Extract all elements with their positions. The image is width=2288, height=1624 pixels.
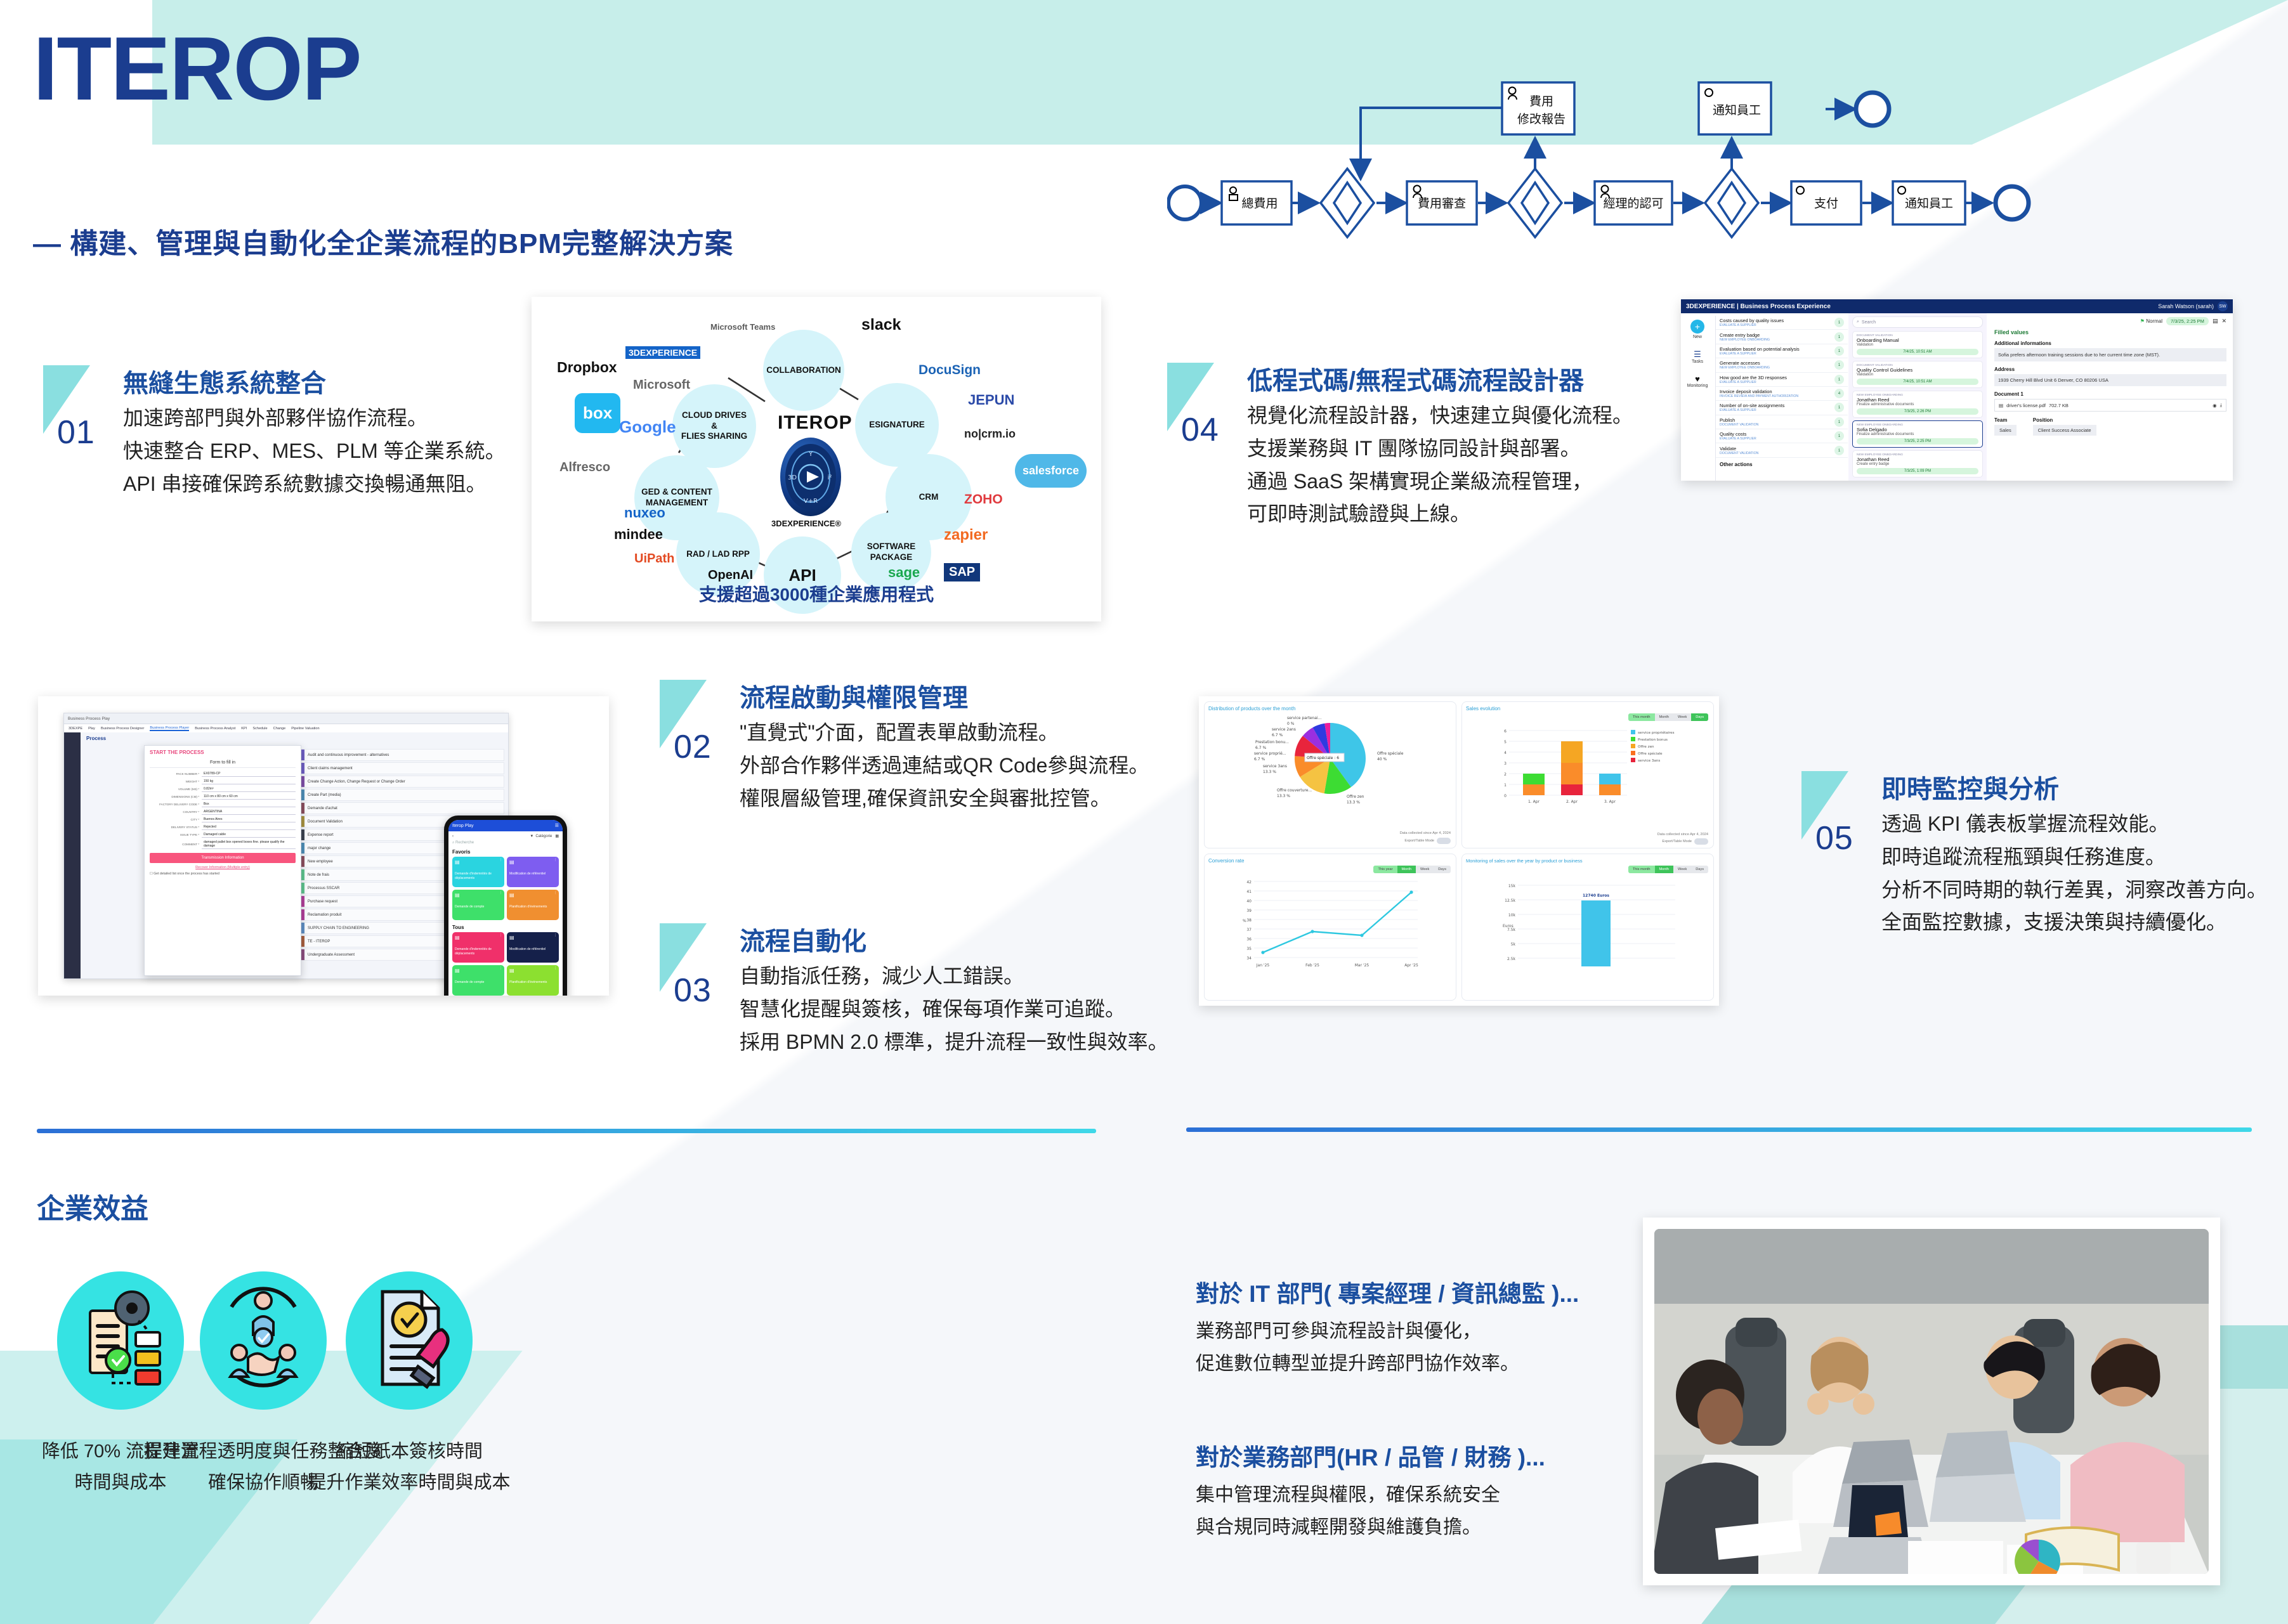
tile-label: Demande de compte	[455, 905, 502, 909]
filter-icon[interactable]: ▼	[530, 835, 533, 838]
app-task-row[interactable]: Quality costsEvaluate a supplier1	[1716, 429, 1848, 443]
svg-text:39: 39	[1246, 909, 1252, 913]
app-task-row[interactable]: Number of on-site assignmentsEvaluate a …	[1716, 401, 1848, 415]
position-label: Position	[2033, 417, 2096, 423]
app-task-row[interactable]: How good are the 3D responsesEvaluate a …	[1716, 373, 1848, 387]
feature-line: 可即時測試驗證與上線。	[1247, 498, 1633, 531]
app-task-title: How good are the 3D responses	[1720, 375, 1834, 380]
feature-title: 無縫生態系統整合	[123, 363, 326, 400]
tablet-menu-item[interactable]: Pipeline Valuation	[291, 727, 319, 731]
app-task-title: Costs caused by quality issues	[1720, 318, 1834, 323]
sales-export-toggle[interactable]: Export/Table Mode	[1662, 838, 1708, 845]
form-field-value[interactable]: 0.82m³	[202, 786, 296, 792]
bpmn-task-label-2: 費用審查	[1418, 197, 1466, 211]
feature-number: 04	[1181, 411, 1219, 449]
form-field-row[interactable]: CITY *Buenos Aires	[150, 817, 296, 822]
chart-range-tab[interactable]: Month	[1397, 866, 1416, 873]
app-task-row[interactable]: ValidateDocument Validation1	[1716, 443, 1848, 457]
card-time: 7/4/25, 10:51 AM	[1857, 379, 1978, 385]
pie-label-3: service 3ans	[1263, 764, 1287, 769]
chart-range-tab[interactable]: Days	[1434, 866, 1451, 873]
process-name: Audit and continuous improvement - alter…	[304, 753, 389, 757]
plus-icon[interactable]: +	[1690, 320, 1704, 334]
tile-menu-icon[interactable]: ⋮	[499, 933, 502, 938]
document-label: Document 1	[1994, 391, 2226, 397]
chart-range-tab[interactable]: Month	[1655, 713, 1674, 721]
hamburger-icon[interactable]: ☰	[555, 823, 559, 828]
filled-values-heading: Filled values	[1994, 329, 2226, 335]
logo-docusign: DocuSign	[918, 363, 981, 378]
svg-text:V+R: V+R	[804, 498, 818, 505]
svg-text:40: 40	[1246, 899, 1252, 904]
pie-label-0: Offre spéciale	[1377, 751, 1404, 756]
feature-title: 即時監控與分析	[1881, 769, 2059, 805]
logo-microsoft-teams: Microsoft Teams	[710, 322, 775, 332]
bpmn-task-label-7: 通知員工	[1713, 103, 1761, 117]
form-field-row[interactable]: PACK NUMBER *EX0789-CP	[150, 771, 296, 777]
app-task-title: Evaluation based on potential analysis	[1720, 346, 1834, 352]
rail-label-tasks: Tasks	[1681, 360, 1714, 364]
document-attachment[interactable]: ▤ driver's license.pdf 702.7 KB ◉ ⤓	[1994, 399, 2226, 412]
analytics-dashboard-card: Distribution of products over the month …	[1199, 696, 1719, 1006]
form-field-value[interactable]: ARGENTINA	[202, 809, 296, 815]
bpmn-task-label-3: 經理的認可	[1603, 197, 1663, 211]
app-task-card[interactable]: New Employee OnboardingSofia DelgadoFina…	[1852, 420, 1983, 448]
audience-title: 對於業務部門(HR / 品管 / 財務 )...	[1196, 1438, 1545, 1472]
logo-uipath: UiPath	[634, 552, 674, 566]
tile-label: Demande de compte	[455, 980, 502, 985]
process-list-item[interactable]: +Create Part (media)	[290, 789, 504, 801]
bpmn-task-label-4: 支付	[1814, 197, 1838, 211]
feature-line: 通過 SaaS 架構實現企業級流程管理，	[1247, 465, 1633, 498]
phone-tile[interactable]: ▤⋮Demande d'indemnités de déplacements	[452, 932, 504, 963]
ecosystem-diagram-card: COLLABORATION CLOUD DRIVES & FLIES SHARI…	[532, 297, 1101, 621]
tile-icon: ▤	[455, 935, 460, 940]
phone-section-tous: Tous	[452, 925, 563, 930]
sales-legend-entry: Offre spéciale	[1638, 751, 1663, 756]
pie-tooltip: Offre spéciale : 6	[1307, 756, 1339, 760]
audience-block-business: 對於業務部門(HR / 品管 / 財務 )... 集中管理流程與權限，確保系統安…	[1196, 1438, 1545, 1543]
app-task-subtitle: Evaluate a supplier	[1720, 380, 1834, 384]
tile-icon: ▤	[455, 892, 460, 898]
svg-text:6.7 %: 6.7 %	[1254, 757, 1265, 762]
tablet-left-rail	[64, 732, 81, 978]
tile-menu-icon[interactable]: ⋮	[554, 933, 557, 938]
logo-sap: SAP	[944, 563, 980, 581]
address-value: 1939 Cherry Hill Blvd Unit 6 Denver, CO …	[1994, 374, 2226, 386]
monitor-icon[interactable]: ♥	[1681, 374, 1714, 384]
app-cards[interactable]: Document ValidationOnboarding ManualVali…	[1848, 331, 1987, 477]
conversion-tabs[interactable]: This yearMonthWeekDays	[1373, 866, 1451, 873]
process-name: Client claims management	[304, 767, 353, 770]
app-task-list[interactable]: Costs caused by quality issuesEvaluate a…	[1715, 316, 1848, 481]
priority-badge: ⚑ Normal	[2140, 318, 2162, 324]
toggle-switch[interactable]	[1694, 838, 1708, 845]
bpmn-end-event-1	[1996, 186, 2029, 219]
app-task-title: Create entry badge	[1720, 332, 1834, 338]
app-task-count: 1	[1834, 318, 1844, 327]
app-task-title: Invoice deposit validation	[1720, 389, 1834, 394]
document-filename: driver's license.pdf	[2006, 403, 2046, 408]
form-field-row[interactable]: FACTORY DELIVERY CODE *Box	[150, 802, 296, 807]
3dexperience-compass-icon: Y 3D i² V+R	[780, 438, 841, 516]
mon-ytick-4: 12.5k	[1505, 899, 1515, 903]
download-icon[interactable]: ⤓	[2220, 402, 2222, 408]
tile-menu-icon[interactable]: ⋮	[554, 858, 557, 862]
svg-text:3: 3	[1504, 762, 1507, 766]
pie-label-5: Prestation bonu...	[1255, 740, 1289, 744]
tablet-menu-item[interactable]: Change	[273, 727, 286, 731]
process-list-item[interactable]: +Audit and continuous improvement - alte…	[290, 749, 504, 761]
card-time: 7/4/25, 10:51 AM	[1857, 349, 1978, 355]
form-field-value[interactable]: Damaged cable	[202, 832, 296, 838]
detailed-list-checkbox[interactable]: ☐ Get detailed list once the process has…	[150, 872, 296, 876]
app-task-title: Publish	[1720, 417, 1834, 423]
pie-label-4: service proprié...	[1254, 751, 1286, 756]
process-list-item[interactable]: +Create Change Action, Change Request or…	[290, 776, 504, 788]
audience-line: 集中管理流程與權限，確保系統安全	[1196, 1480, 1545, 1511]
form-field-value[interactable]: 110 cm x 80 cm x 60 cm	[202, 794, 296, 800]
app-task-row[interactable]: Evaluation based on potential analysisEv…	[1716, 344, 1848, 358]
eco-hub-cloud-drives: CLOUD DRIVES & FLIES SHARING	[672, 384, 756, 468]
feature-line: 快速整合 ERP、MES、PLM 等企業系統。	[123, 435, 506, 468]
form-field-value[interactable]: 150 kg	[202, 779, 296, 784]
audience-title: 對於 IT 部門( 專案經理 / 資訊總監 )...	[1196, 1275, 1579, 1309]
svg-text:37: 37	[1246, 928, 1252, 932]
tablet-menu-item[interactable]: Business Process Analyst	[195, 727, 235, 731]
feature-number: 03	[674, 971, 712, 1010]
tablet-panel-title: Process	[81, 732, 508, 744]
phone-tile[interactable]: ▤⋮Modification de référentiel	[507, 857, 559, 887]
app-task-subtitle: New Employee Onboarding	[1720, 366, 1834, 370]
other-actions-label: Other actions	[1716, 458, 1848, 471]
tile-icon: ▤	[509, 892, 514, 898]
app-task-title: Quality costs	[1720, 431, 1834, 437]
tablet-menu-item[interactable]: 3DEXPE	[69, 727, 82, 731]
phone-tile[interactable]: ▤⋮Modification de référentiel	[507, 932, 559, 963]
process-name: New employee	[304, 860, 333, 864]
tablet-menu-item[interactable]: KPI	[241, 727, 247, 731]
save-icon[interactable]: ▤	[2213, 318, 2218, 325]
submit-button[interactable]: Transmission Information	[150, 853, 296, 863]
app-task-subtitle: Evaluate a supplier	[1720, 437, 1834, 441]
document-filesize: 702.7 KB	[2049, 403, 2069, 408]
start-process-dialog[interactable]: START THE PROCESS Form to fill in PACK N…	[144, 745, 301, 976]
feature-title: 流程自動化	[740, 921, 866, 958]
phone-search-input[interactable]: ⌕ Recherche	[452, 841, 559, 845]
form-field-row[interactable]: WEIGHT *150 kg	[150, 779, 296, 784]
svg-text:4: 4	[1504, 751, 1507, 755]
tile-menu-icon[interactable]: ⋮	[554, 891, 557, 895]
logo-mindee: mindee	[614, 526, 663, 543]
app-task-card[interactable]: Document ValidationOnboarding ManualVali…	[1852, 331, 1983, 358]
svg-text:3D: 3D	[788, 474, 797, 481]
app-task-subtitle: Evaluate a supplier	[1720, 323, 1834, 327]
app-task-row[interactable]: Generate accessesNew Employee Onboarding…	[1716, 358, 1848, 372]
form-field-label: DIMENSIONS (CM) *	[150, 795, 202, 798]
svg-text:0 %: 0 %	[1287, 722, 1295, 726]
logo-zapier: zapier	[944, 526, 988, 544]
feature-title: 流程啟動與權限管理	[740, 677, 968, 714]
card-subtitle: Validation	[1857, 343, 1978, 347]
tablet-menu-item[interactable]: Business Process Designer	[101, 727, 144, 731]
phone-tile[interactable]: ▤⋮Planification d'événements	[507, 965, 559, 996]
logo-3dexperience: 3DEXPERIENCE	[625, 346, 700, 359]
svg-text:36: 36	[1246, 937, 1252, 942]
process-name: Note de frais	[304, 873, 329, 877]
chart-title-conversion: Conversion rate	[1208, 858, 1452, 864]
tile-label: Planification d'événements	[509, 905, 556, 909]
app-task-count: 4	[1834, 389, 1844, 398]
form-field-value[interactable]: EX0789-CP	[202, 771, 296, 777]
form-field-label: PACK NUMBER *	[150, 772, 202, 776]
bpmn-task-label-6a: 費用	[1529, 94, 1553, 108]
team-value: Sales	[1994, 425, 2017, 436]
card-title: Onboarding Manual	[1857, 337, 1978, 343]
pie-label-6: service 2ans	[1272, 727, 1296, 732]
eco-center-sub: 3DEXPERIENCE®	[771, 519, 841, 528]
feature-line: 外部合作夥伴透過連結或QR Code參與流程。	[740, 750, 1149, 783]
monitoring-tabs[interactable]: This monthMonthWeekDays	[1628, 866, 1708, 873]
card-subtitle: Finalize administrative documents	[1857, 403, 1978, 406]
bpmn-flow-diagram: 總費用 費用審查 經理的認可 支付 通知員工 費用 修改報告 通知員工	[1167, 70, 2284, 260]
tablet-menu-item[interactable]: Schedule	[252, 727, 267, 731]
form-field-value[interactable]: Rejected	[202, 824, 296, 830]
eco-center-label: ITEROP	[778, 412, 853, 434]
app-task-subtitle: Document Validation	[1720, 423, 1834, 427]
mon-ytick-5: 15k	[1508, 884, 1516, 888]
tile-menu-icon[interactable]: ⋮	[554, 966, 557, 971]
app-task-row[interactable]: Costs caused by quality issuesEvaluate a…	[1716, 316, 1848, 330]
sales-bar-svg: 654 3210 1. Apr 2. Apr 3. Apr se	[1466, 724, 1709, 808]
form-heading: Form to fill in	[150, 760, 296, 768]
logo-zoho: ZOHO	[964, 492, 1003, 507]
logo-microsoft: Microsoft	[633, 378, 690, 393]
process-name: major change	[304, 847, 330, 850]
eco-hub-esignature: ESIGNATURE	[855, 383, 939, 467]
file-icon: ▤	[1999, 403, 2003, 408]
chart-range-tab[interactable]: This month	[1628, 713, 1655, 721]
svg-text:34: 34	[1246, 956, 1252, 961]
mon-ytick-0: 2.5k	[1507, 957, 1516, 961]
form-field-label: DELIVERY STATUS *	[150, 826, 202, 829]
search-icon: ⌕	[1857, 320, 1859, 325]
svg-text:35: 35	[1246, 947, 1252, 951]
svg-text:6.7 %: 6.7 %	[1272, 733, 1283, 737]
position-value: Client Success Associate	[2033, 425, 2096, 436]
pie-export-toggle[interactable]: Export/Table Mode	[1404, 838, 1451, 844]
back-icon[interactable]: ‹	[452, 835, 454, 838]
tile-menu-icon[interactable]: ⋮	[499, 891, 502, 895]
process-name: Create Part (media)	[304, 793, 341, 797]
phone-tile[interactable]: ▤⋮Demande de compte	[452, 965, 504, 996]
conversion-ylabel: %	[1243, 919, 1246, 923]
tile-icon: ▤	[509, 859, 514, 865]
app-task-count: 1	[1834, 417, 1844, 427]
app-task-row[interactable]: Create entry badgeNew Employee Onboardin…	[1716, 330, 1848, 344]
logo-salesforce: salesforce	[1015, 454, 1087, 488]
chart-range-tab[interactable]: Week	[1416, 866, 1434, 873]
secondary-link[interactable]: Recover Information (Multiple entry)	[150, 866, 296, 869]
chart-panel-monitoring: Monitoring of sales over the year by pro…	[1461, 854, 1714, 1001]
feature-number: 01	[57, 413, 95, 451]
chart-range-tab[interactable]: Month	[1655, 866, 1674, 873]
feature-line: 權限層級管理,確保資訊安全與審批控管。	[740, 783, 1149, 815]
phone-tiles-tous[interactable]: ▤⋮Demande d'indemnités de déplacements▤⋮…	[452, 932, 559, 996]
sales-legend-entry: Offre zen	[1638, 745, 1654, 749]
form-field-value[interactable]: Buenos Aires	[202, 817, 296, 822]
process-list-item[interactable]: +Client claims management	[290, 762, 504, 774]
pie-label-2: Offre couverture...	[1277, 788, 1312, 793]
process-name: SUPPLY CHAIN TO ENGINEERING	[304, 926, 369, 930]
feature-line: 採用 BPMN 2.0 標準，提升流程一致性與效率。	[740, 1026, 1168, 1059]
avatar[interactable]: SW	[2218, 301, 2228, 311]
app-task-row[interactable]: PublishDocument Validation1	[1716, 415, 1848, 429]
monitoring-data-label: 12740 Euros	[1583, 893, 1609, 898]
sales-xtick-2: 3. Apr	[1604, 800, 1616, 804]
tile-icon: ▤	[509, 935, 514, 940]
page-subtitle: — 構建、管理與自動化全企業流程的BPM完整解決方案	[33, 221, 733, 261]
chart-panel-conversion: Conversion rate This yearMonthWeekDays 4…	[1204, 854, 1456, 1001]
tablet-menu-item[interactable]: Business Process Player	[150, 726, 189, 731]
form-field-value[interactable]: Box	[202, 802, 296, 807]
eye-icon[interactable]: ◉	[2213, 403, 2217, 408]
ecosystem-caption: 支援超過3000種企業應用程式	[538, 581, 1095, 606]
feature-line: 視覺化流程設計器，快速建立與優化流程。	[1247, 400, 1633, 432]
app-task-count: 1	[1834, 431, 1844, 441]
audience-line: 促進數位轉型並提升跨部門協作效率。	[1196, 1349, 1579, 1380]
sales-tabs[interactable]: This monthMonthWeekDays	[1628, 713, 1708, 721]
form-fields[interactable]: PACK NUMBER *EX0789-CPWEIGHT *150 kgVOLU…	[150, 771, 296, 849]
additional-info-label: Additional informations	[1994, 341, 2226, 346]
app-task-subtitle: Invoice Review and Payment Authorization	[1720, 394, 1834, 398]
mon-ytick-1: 5k	[1511, 942, 1516, 947]
benefit-item-3: 縮短紙本簽核時間 提升作業效率時間與成本	[276, 1271, 542, 1499]
form-field-value[interactable]: damaged pallet box opened boxes fine. pl…	[202, 840, 296, 849]
app-task-card[interactable]: New Employee OnboardingJonathan ReedCrea…	[1852, 450, 1983, 477]
tile-menu-icon[interactable]: ⋮	[499, 966, 502, 971]
search-input[interactable]: ⌕ Search	[1852, 316, 1983, 328]
card-time: 7/3/25, 2:26 PM	[1857, 408, 1978, 415]
benefits-section-title: 企業效益	[37, 1186, 148, 1226]
app-task-subtitle: Evaluate a supplier	[1720, 352, 1834, 356]
logo-slack: slack	[861, 316, 901, 334]
app-screenshot-card: 3DEXPERIENCE | Business Process Experien…	[1681, 299, 2233, 481]
phone-tile[interactable]: ▤⋮Planification d'événements	[507, 890, 559, 920]
form-field-label: WEIGHT *	[150, 780, 202, 783]
svg-text:6: 6	[1504, 729, 1507, 734]
process-name: TE - ITEROP	[304, 940, 330, 944]
audience-line: 與合規同時減輕開發與維護負擔。	[1196, 1512, 1545, 1543]
chart-range-tab[interactable]: Week	[1673, 713, 1691, 721]
tile-icon: ▤	[509, 968, 514, 973]
pie-label-1: Offre zen	[1347, 795, 1364, 799]
logo-box: box	[575, 393, 620, 433]
process-name: Create Change Action, Change Request or …	[304, 780, 405, 784]
phone-app-title: Iterop Play	[452, 824, 473, 828]
app-header-bar: 3DEXPERIENCE | Business Process Experien…	[1681, 299, 2233, 313]
conv-xtick-0: Jan '25	[1256, 963, 1270, 968]
svg-text:13.3 %: 13.3 %	[1347, 800, 1360, 805]
app-task-row[interactable]: Invoice deposit validationInvoice Review…	[1716, 387, 1848, 401]
card-title: Sofia Delgado	[1857, 427, 1978, 432]
tile-label: Demande d'indemnités de déplacements	[455, 947, 502, 956]
svg-text:0: 0	[1504, 794, 1507, 798]
list-icon[interactable]: ☰	[1681, 349, 1714, 360]
chart-range-tab[interactable]: This month	[1628, 866, 1655, 873]
app-task-count: 1	[1834, 403, 1844, 412]
monitoring-bar-svg: 15k 12.5k 10k 7.5k 5k 2.5k Euros 12740 E…	[1466, 876, 1709, 971]
process-name: Expense report	[304, 833, 334, 837]
phone-tile[interactable]: ▤⋮Demande de compte	[452, 890, 504, 920]
app-task-subtitle: New Employee Onboarding	[1720, 338, 1834, 342]
sales-legend-entry: Prestation bonus	[1638, 738, 1668, 742]
form-field-row[interactable]: DELIVERY STATUS *Rejected	[150, 824, 296, 830]
form-field-label: VOLUME (M3) *	[150, 788, 202, 791]
svg-text:6.7 %: 6.7 %	[1255, 746, 1266, 750]
form-field-label: COUNTRY *	[150, 810, 202, 814]
form-field-row[interactable]: DIMENSIONS (CM) *110 cm x 80 cm x 60 cm	[150, 794, 296, 800]
tablet-menu-item[interactable]: Play	[88, 727, 95, 731]
chart-range-tab[interactable]: Days	[1691, 866, 1708, 873]
form-field-label: FACTORY DELIVERY CODE *	[150, 803, 202, 806]
phone-mockup: Iterop Play ☰ ‹ ▼ Catégorie ▦ ⌕ Recherch…	[444, 815, 567, 996]
additional-info-value: Sofia prefers afternoon training session…	[1994, 348, 2226, 361]
tile-menu-icon[interactable]: ⋮	[499, 858, 502, 862]
rail-label-new: New	[1681, 335, 1714, 339]
form-field-row[interactable]: VOLUME (M3) *0.82m³	[150, 786, 296, 792]
phone-filter-bar[interactable]: ‹ ▼ Catégorie ▦	[448, 831, 563, 841]
phone-tiles-favoris[interactable]: ▤⋮Demande d'indemnités de déplacements▤⋮…	[452, 857, 559, 920]
form-field-row[interactable]: COUNTRY *ARGENTINA	[150, 809, 296, 815]
phone-tile[interactable]: ▤⋮Demande d'indemnités de déplacements	[452, 857, 504, 887]
due-badge: 7/3/25, 2:25 PM	[2166, 317, 2209, 325]
toggle-switch[interactable]	[1437, 838, 1451, 844]
svg-text:1: 1	[1504, 783, 1507, 788]
monitoring-ylabel: Euros	[1503, 924, 1513, 928]
audience-block-it: 對於 IT 部門( 專案經理 / 資訊總監 )... 業務部門可參與流程設計與優…	[1196, 1275, 1579, 1379]
tile-label: Modification de référentiel	[509, 947, 556, 952]
search-placeholder-text: Search	[1862, 320, 1876, 325]
app-task-card[interactable]: New Employee OnboardingJonathan ReedFina…	[1852, 391, 1983, 418]
app-task-card[interactable]: Document ValidationQuality Control Guide…	[1852, 361, 1983, 388]
form-field-row[interactable]: ISSUE TYPE *Damaged cable	[150, 832, 296, 838]
sales-xtick-1: 2. Apr	[1566, 800, 1578, 804]
phone-filter-label: Catégorie	[535, 835, 552, 838]
feature-line: 自動指派任務，減少人工錯誤。	[740, 960, 1168, 993]
bpmn-end-event-2	[1856, 93, 1889, 126]
svg-text:Y: Y	[808, 451, 813, 458]
form-field-row[interactable]: COMMENT *damaged pallet box opened boxes…	[150, 840, 296, 849]
team-meeting-photo	[1643, 1218, 2220, 1585]
chart-range-tab[interactable]: This year	[1373, 866, 1397, 873]
process-list-item[interactable]: +Demande d'achat	[290, 802, 504, 814]
form-field-label: CITY *	[150, 818, 202, 821]
logo-sage: sage	[888, 564, 920, 581]
app-task-title: Number of on-site assignments	[1720, 403, 1834, 408]
app-user-name: Sarah Watson (sarah)	[2158, 303, 2214, 309]
svg-text:40 %: 40 %	[1377, 757, 1387, 762]
brand-logo: ITEROP	[33, 24, 361, 114]
chart-range-tab[interactable]: Days	[1691, 713, 1708, 721]
chart-panel-sales-evolution: Sales evolution This monthMonthWeekDays …	[1461, 701, 1714, 848]
card-time: 7/3/25, 2:25 PM	[1857, 438, 1978, 445]
grid-view-icon[interactable]: ▦	[555, 834, 559, 838]
chart-range-tab[interactable]: Week	[1673, 866, 1691, 873]
logo-nocrm: no|crm.io	[964, 427, 1016, 441]
svg-text:42: 42	[1246, 880, 1252, 885]
close-icon[interactable]: ✕	[2221, 318, 2226, 325]
